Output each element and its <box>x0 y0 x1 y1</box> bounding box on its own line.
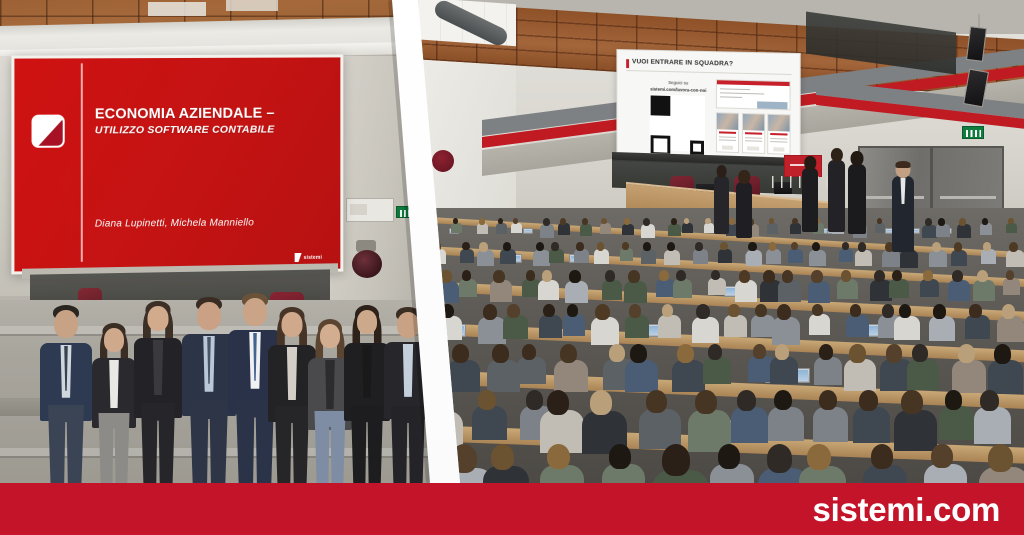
student-head <box>597 242 605 251</box>
student-head <box>858 242 867 252</box>
laptop-screen <box>525 230 531 233</box>
student-torso <box>948 280 969 301</box>
student-torso <box>929 250 947 267</box>
screen-rule <box>626 70 791 75</box>
student-head <box>782 270 793 283</box>
student-torso <box>973 280 995 301</box>
speaker-shirt <box>900 178 907 204</box>
student-torso <box>622 224 634 236</box>
student-torso <box>731 407 768 443</box>
standing-person <box>714 176 729 234</box>
student-torso <box>625 315 649 338</box>
student-torso <box>957 224 971 237</box>
website-preview <box>716 79 791 110</box>
student-head <box>899 304 912 318</box>
website-line <box>720 88 750 90</box>
student-torso <box>673 279 692 298</box>
student-head <box>609 444 631 469</box>
legs <box>391 406 425 483</box>
student-head <box>753 344 767 359</box>
wall-clock-icon <box>432 150 454 172</box>
card-button <box>773 147 785 151</box>
head <box>357 310 377 334</box>
sistemi-logo-icon <box>32 115 65 148</box>
student-torso <box>951 250 968 266</box>
student-torso <box>580 224 592 236</box>
student-torso <box>693 249 708 264</box>
student-torso <box>997 316 1024 342</box>
student-head <box>671 218 677 225</box>
website-thumb <box>757 101 787 110</box>
student-head <box>526 270 536 281</box>
slide-divider-line <box>81 63 83 261</box>
student-torso <box>664 250 680 266</box>
standing-person-head <box>851 151 864 166</box>
person-figure <box>40 305 92 483</box>
student-head <box>886 344 903 363</box>
exit-sign-icon <box>962 126 984 139</box>
legs <box>315 411 346 483</box>
student-head <box>952 270 963 282</box>
student-head <box>695 242 703 251</box>
student-torso <box>558 223 570 234</box>
student-head <box>479 242 488 252</box>
student-head <box>923 270 932 281</box>
student-head <box>609 344 625 362</box>
person-figure <box>384 307 432 483</box>
student-head <box>874 270 885 282</box>
student-torso <box>1006 250 1024 267</box>
card-accent <box>745 132 762 135</box>
legs <box>275 406 309 483</box>
legs <box>141 403 175 483</box>
card-row <box>716 112 791 155</box>
student-head <box>774 390 792 410</box>
legs <box>351 405 383 483</box>
student-torso <box>746 250 762 266</box>
student-torso <box>540 224 554 237</box>
student-head <box>426 218 433 226</box>
student-head <box>755 304 767 317</box>
student-torso <box>900 250 918 267</box>
student-head <box>882 304 894 318</box>
student-head <box>969 304 981 318</box>
student-torso <box>1006 223 1017 233</box>
slide-authors: Diana Lupinetti, Michela Manniello <box>95 217 344 230</box>
student-torso <box>692 317 719 343</box>
student-torso <box>600 223 611 234</box>
student-head <box>945 390 963 410</box>
student-torso <box>839 249 853 263</box>
student-head <box>676 270 686 281</box>
student-torso <box>490 280 512 302</box>
student-torso <box>718 249 732 263</box>
student-head <box>543 304 555 317</box>
student-head <box>980 390 999 411</box>
student-head <box>982 218 988 225</box>
student-head <box>958 344 975 363</box>
student-torso <box>922 225 936 239</box>
door-push-bar <box>940 196 996 199</box>
speaker-hair <box>896 161 911 168</box>
student-head <box>977 270 988 282</box>
student-torso <box>735 280 758 302</box>
title-accent-bar <box>626 59 628 68</box>
standing-person <box>802 168 818 232</box>
student-torso <box>451 223 462 233</box>
ceiling-speaker-icon <box>352 250 382 278</box>
student-head <box>677 344 694 363</box>
head <box>243 298 267 326</box>
student-head <box>711 270 720 280</box>
brand-mark-icon <box>295 253 302 262</box>
student-torso <box>768 407 804 442</box>
left-photo-group-photo: ECONOMIA AZIENDALE – UTILIZZO SOFTWARE C… <box>0 0 432 483</box>
student-torso <box>882 250 899 267</box>
student-torso <box>565 281 588 303</box>
student-torso <box>929 316 955 341</box>
student-head <box>453 218 458 224</box>
ceiling-light-panel <box>226 0 278 11</box>
student-torso <box>477 250 494 266</box>
student-head <box>767 444 793 473</box>
student-head <box>932 242 941 252</box>
speaker-head <box>896 161 911 178</box>
student-torso <box>672 360 706 392</box>
student-torso <box>703 357 731 384</box>
student-torso <box>889 279 909 298</box>
student-head <box>643 218 650 226</box>
student-head <box>775 344 789 360</box>
student-head <box>628 270 640 283</box>
student-torso <box>538 280 559 300</box>
student-torso <box>767 223 778 234</box>
website-line <box>720 92 764 94</box>
head <box>320 324 340 348</box>
student-torso <box>478 317 506 344</box>
student-head <box>451 444 477 473</box>
student-torso <box>875 223 886 233</box>
student-torso <box>668 224 681 236</box>
card-button <box>722 145 734 149</box>
card-accent <box>719 131 736 134</box>
student-torso <box>844 359 877 391</box>
student-torso <box>431 249 446 264</box>
brand-url: sistemi.com <box>813 493 1000 526</box>
slide-background <box>14 57 340 271</box>
card-button <box>747 146 759 150</box>
student-head <box>629 304 641 318</box>
student-head <box>841 270 851 282</box>
student-head <box>595 304 609 320</box>
student-head <box>483 304 497 320</box>
student-head <box>849 344 865 363</box>
student-head <box>560 218 566 225</box>
student-torso <box>894 410 937 452</box>
student-head <box>522 344 536 360</box>
student-head <box>695 390 717 414</box>
student-torso <box>503 315 527 339</box>
student-torso <box>790 223 801 234</box>
student-torso <box>549 249 564 263</box>
student-torso <box>853 407 890 443</box>
student-head <box>748 242 756 251</box>
student-head <box>662 444 691 476</box>
student-head <box>1009 242 1018 252</box>
student-head <box>912 344 928 362</box>
student-torso <box>809 314 831 335</box>
student-torso <box>981 249 996 264</box>
student-torso <box>788 249 803 263</box>
student-head <box>892 270 902 281</box>
slide-brand-footer: sistemi <box>295 252 333 263</box>
student-torso <box>625 360 659 393</box>
head <box>54 310 78 338</box>
student-torso <box>460 249 475 263</box>
card-line <box>745 137 762 139</box>
student-torso <box>620 248 633 261</box>
student-head <box>478 390 496 410</box>
student-torso <box>539 315 563 338</box>
student-head <box>624 218 630 225</box>
student-torso <box>591 317 620 345</box>
student-head <box>590 390 612 415</box>
right-photo-lecture-hall: VUOI ENTRARE IN SQUADRA? Seguici su sist… <box>396 0 1024 483</box>
coat-hooks <box>772 176 830 188</box>
student-torso <box>708 278 726 295</box>
student-head <box>1002 304 1015 319</box>
student-head <box>542 270 552 282</box>
legs <box>190 401 228 483</box>
projected-title-slide: ECONOMIA AZIENDALE – UTILIZZO SOFTWARE C… <box>11 54 343 274</box>
student-torso <box>517 357 545 384</box>
student-head <box>492 344 509 363</box>
student-head <box>1008 218 1013 224</box>
card-line <box>719 136 736 138</box>
student-head <box>551 242 559 251</box>
legs <box>99 413 130 483</box>
student-head <box>737 390 756 411</box>
student-torso <box>808 281 831 303</box>
website-line <box>720 96 742 98</box>
student-torso <box>772 317 801 345</box>
student-torso <box>682 223 693 233</box>
card-image <box>768 115 789 132</box>
qr-code-icon <box>650 94 705 151</box>
qr-finder-pattern <box>690 140 704 154</box>
student-torso <box>939 406 974 440</box>
student-head <box>526 390 544 410</box>
student-torso <box>437 316 462 340</box>
info-card <box>767 114 790 155</box>
student-head <box>662 304 674 317</box>
student-head <box>954 242 962 252</box>
student-torso <box>814 357 843 385</box>
student-torso <box>641 249 656 264</box>
student-head <box>959 218 966 226</box>
student-head <box>877 218 882 224</box>
student-head <box>503 242 511 251</box>
student-torso <box>894 316 919 341</box>
laptop-icon <box>523 228 533 235</box>
student-torso <box>533 250 550 266</box>
student-head <box>728 304 739 317</box>
screen-title: VUOI ENTRARE IN SQUADRA? <box>632 58 733 67</box>
student-head <box>543 218 550 226</box>
student-torso <box>624 281 647 304</box>
student-head <box>983 242 991 251</box>
student-head <box>850 304 861 317</box>
person-figure <box>92 323 136 483</box>
student-torso <box>639 409 680 449</box>
website-header-bar <box>717 80 791 86</box>
brand-name: sistemi <box>304 254 323 260</box>
wall-panel-inset <box>350 204 367 215</box>
student-head <box>819 390 837 410</box>
head <box>397 312 419 338</box>
info-card <box>716 112 739 153</box>
student-torso <box>813 407 849 442</box>
standing-person <box>736 182 752 238</box>
brand-banner: sistemi.com <box>0 483 1024 535</box>
card-line <box>719 139 736 141</box>
student-head <box>462 270 471 281</box>
student-head <box>507 304 519 318</box>
card-line <box>745 140 762 142</box>
student-torso <box>554 360 588 393</box>
photo-collage: ECONOMIA AZIENDALE – UTILIZZO SOFTWARE C… <box>0 0 1024 483</box>
student-torso <box>846 315 869 337</box>
student-head <box>547 444 570 469</box>
legs <box>48 405 84 483</box>
student-head <box>931 444 953 468</box>
student-torso <box>472 406 507 440</box>
student-torso <box>1003 278 1020 295</box>
student-torso <box>594 249 609 264</box>
student-head <box>718 444 740 469</box>
student-torso <box>423 224 437 237</box>
student-head <box>605 270 615 282</box>
student-head <box>493 270 504 283</box>
info-card <box>742 113 765 154</box>
standing-person <box>848 164 866 234</box>
student-torso <box>974 407 1011 443</box>
head <box>148 306 169 331</box>
student-head <box>720 242 727 250</box>
slide-subtitle: UTILIZZO SOFTWARE CONTABILE <box>95 123 335 136</box>
standing-person-head <box>716 165 727 177</box>
student-head <box>859 390 878 411</box>
student-head <box>434 242 442 251</box>
student-head <box>933 304 946 319</box>
student-torso <box>724 315 747 337</box>
student-torso <box>563 314 585 335</box>
student-head <box>441 304 454 318</box>
follow-url: sistemi.com/lavora-con-noi <box>637 86 720 95</box>
student-head <box>777 304 791 320</box>
student-head <box>440 270 451 283</box>
student-head <box>452 344 469 363</box>
student-torso <box>936 224 950 237</box>
student-head <box>567 304 578 317</box>
student-head <box>769 242 777 251</box>
student-torso <box>641 224 655 237</box>
card-line <box>770 141 787 143</box>
student-head <box>462 242 469 250</box>
standing-person <box>828 160 845 232</box>
student-head <box>938 218 945 226</box>
card-image <box>743 114 764 131</box>
student-head <box>988 444 1013 472</box>
student-head <box>1006 270 1015 280</box>
student-head <box>646 390 667 413</box>
student-head <box>705 218 710 224</box>
student-head <box>422 304 436 320</box>
student-head <box>871 444 893 469</box>
student-head <box>842 242 849 250</box>
exit-sign-icon <box>396 206 413 218</box>
head <box>104 328 124 352</box>
student-head <box>479 218 485 225</box>
student-head <box>560 344 577 363</box>
collage-root: ECONOMIA AZIENDALE – UTILIZZO SOFTWARE C… <box>0 0 1024 535</box>
student-head <box>811 270 822 283</box>
student-torso <box>988 360 1023 394</box>
student-torso <box>447 360 480 392</box>
head <box>197 302 221 330</box>
student-head <box>667 242 675 251</box>
card-line <box>770 138 787 140</box>
student-torso <box>855 250 872 266</box>
student-head <box>763 270 774 283</box>
student-head <box>696 304 710 319</box>
student-head <box>807 444 830 470</box>
student-head <box>630 344 647 363</box>
logo-curve-shape <box>32 115 65 148</box>
student-torso <box>500 249 515 264</box>
student-torso <box>920 279 939 297</box>
ceiling-light-panel <box>148 2 206 16</box>
card-image <box>717 113 738 130</box>
student-torso <box>809 250 826 266</box>
student-head <box>491 444 514 470</box>
standing-person-head <box>738 170 750 183</box>
student-head <box>819 344 833 360</box>
student-torso <box>837 279 857 299</box>
student-head <box>925 218 932 226</box>
student-head <box>547 390 569 415</box>
speaker-standing <box>892 176 914 252</box>
student-torso <box>436 281 459 303</box>
standing-person-head <box>830 148 842 162</box>
slide-title: ECONOMIA AZIENDALE – <box>95 105 335 124</box>
student-torso <box>658 315 682 338</box>
student-head <box>569 270 580 283</box>
student-head <box>739 270 750 283</box>
student-torso <box>602 280 623 300</box>
student-head <box>622 242 629 250</box>
screen-follow-block: Seguici su sistemi.com/lavora-con-noi <box>637 79 720 94</box>
person-figure <box>134 301 182 483</box>
standing-person-head <box>804 156 816 169</box>
student-torso <box>770 357 798 384</box>
student-head <box>576 242 584 251</box>
student-head <box>729 218 735 225</box>
student-torso <box>574 249 589 264</box>
student-torso <box>907 359 939 390</box>
student-head <box>659 270 668 281</box>
student-torso <box>511 223 522 233</box>
